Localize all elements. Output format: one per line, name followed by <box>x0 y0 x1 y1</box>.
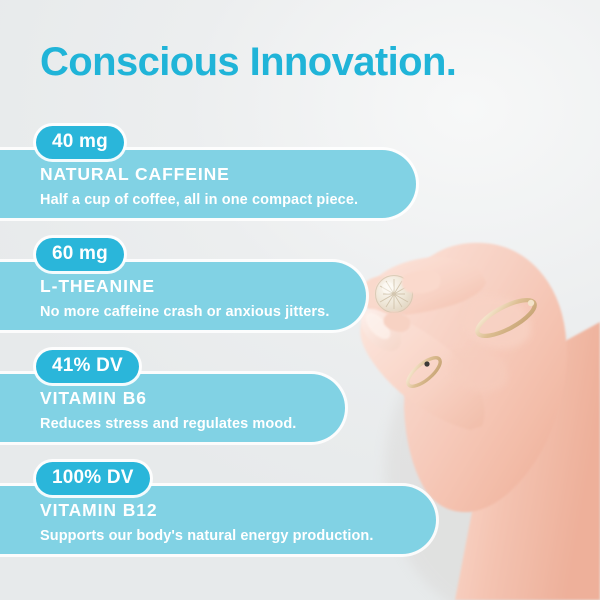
promo-graphic: Conscious Innovation. NATURAL CAFFEINE H… <box>0 0 600 600</box>
dosage-badge: 100% DV <box>36 462 150 495</box>
ingredient-card: NATURAL CAFFEINE Half a cup of coffee, a… <box>0 150 416 218</box>
ingredient-card: VITAMIN B6 Reduces stress and regulates … <box>0 374 345 442</box>
ingredient-description: Supports our body's natural energy produ… <box>40 529 436 544</box>
tablet <box>376 276 413 313</box>
ring-lower <box>404 353 445 391</box>
ingredient-description: Half a cup of coffee, all in one compact… <box>40 193 416 208</box>
dosage-badge: 41% DV <box>36 350 139 383</box>
ingredient-card: VITAMIN B12 Supports our body's natural … <box>0 486 436 554</box>
ring-upper <box>473 293 540 342</box>
ingredient-name: VITAMIN B12 <box>40 502 436 520</box>
ingredient-description: Reduces stress and regulates mood. <box>40 417 345 432</box>
ingredient-name: VITAMIN B6 <box>40 390 345 408</box>
page-title: Conscious Innovation. <box>40 42 456 82</box>
ingredient-description: No more caffeine crash or anxious jitter… <box>40 305 366 320</box>
ingredient-name: NATURAL CAFFEINE <box>40 166 416 184</box>
ingredient-name: L-THEANINE <box>40 278 366 296</box>
ingredient-card: L-THEANINE No more caffeine crash or anx… <box>0 262 366 330</box>
dosage-badge: 60 mg <box>36 238 124 271</box>
dosage-badge: 40 mg <box>36 126 124 159</box>
